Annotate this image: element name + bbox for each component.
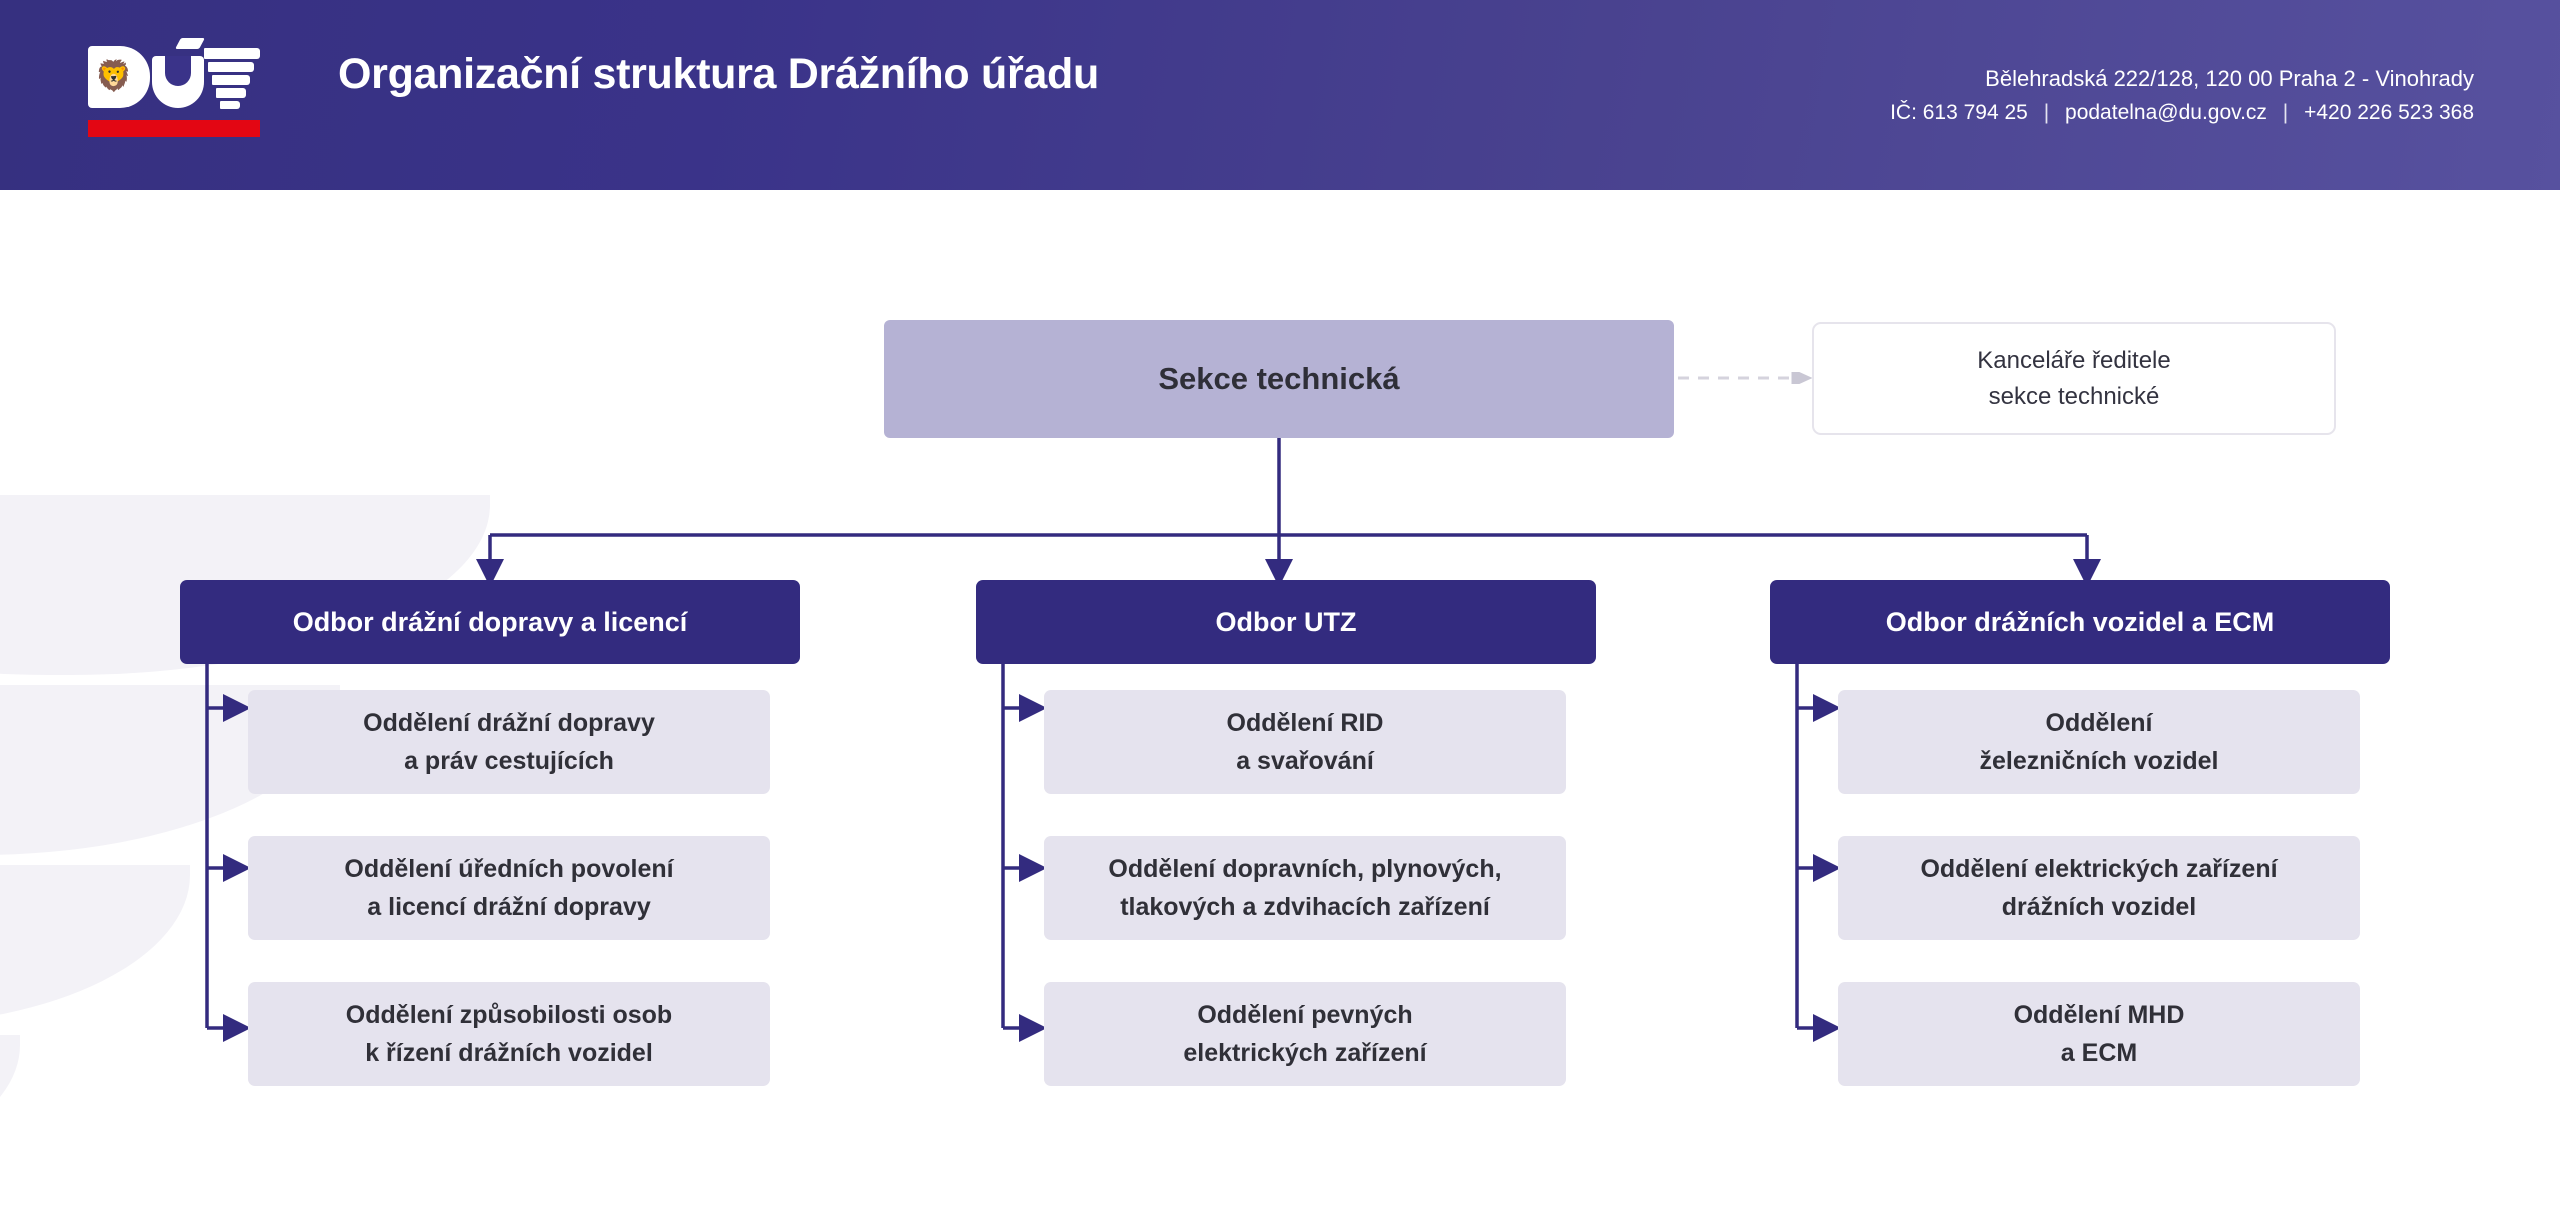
dashed-connector [1678,372,1816,384]
contact-address: Bělehradská 222/128, 120 00 Praha 2 - Vi… [1890,62,2474,96]
unit-line-1: Oddělení MHD [2014,996,2185,1034]
unit-box[interactable]: Oddělení železničních vozidel [1838,690,2360,794]
office-label-line2: sekce technické [1989,379,2160,415]
unit-line-2: a svařování [1236,742,1374,780]
unit-box[interactable]: Oddělení RID a svařování [1044,690,1566,794]
unit-box[interactable]: Oddělení elektrických zařízení drážních … [1838,836,2360,940]
unit-line-1: Oddělení drážní dopravy [363,704,655,742]
logo-letter-u-icon [152,46,204,108]
department-column-1: Odbor drážní dopravy a licencí Oddělení … [180,580,840,1086]
contact-ico: IČ: 613 794 25 [1890,101,2028,124]
unit-line-2: a licencí drážní dopravy [367,888,650,926]
logo-red-bar [88,120,260,137]
contact-separator-1: | [2034,101,2059,124]
unit-line-1: Oddělení pevných [1197,996,1412,1034]
unit-box[interactable]: Oddělení drážní dopravy a práv cestující… [248,690,770,794]
org-chart-canvas: Sekce technická Kanceláře ředitele sekce… [0,190,2560,1209]
unit-line-2: tlakových a zdvihacích zařízení [1120,888,1490,926]
department-column-3: Odbor drážních vozidel a ECM Oddělení že… [1770,580,2430,1086]
node-kancelare-reditele[interactable]: Kanceláře ředitele sekce technické [1812,322,2336,435]
header-contact-info: Bělehradská 222/128, 120 00 Praha 2 - Vi… [1890,62,2474,130]
unit-box[interactable]: Oddělení způsobilosti osob k řízení dráž… [248,982,770,1086]
page-header: 🦁 Organi [0,0,2560,190]
org-chart-page: 🦁 Organi [0,0,2560,1209]
unit-line-1: Oddělení způsobilosti osob [346,996,672,1034]
czech-lion-icon: 🦁 [95,59,125,95]
contact-email[interactable]: podatelna@du.gov.cz [2065,101,2267,124]
unit-line-2: elektrických zařízení [1183,1034,1426,1072]
office-label-line1: Kanceláře ředitele [1977,343,2170,379]
unit-line-1: Oddělení úředních povolení [344,850,673,888]
contact-details-line: IČ: 613 794 25 | podatelna@du.gov.cz | +… [1890,96,2474,130]
unit-line-2: drážních vozidel [2002,888,2196,926]
logo-wing-icon [204,48,260,108]
decorative-swoosh-icon [0,1035,20,1175]
department-header-drazni-vozidla-ecm[interactable]: Odbor drážních vozidel a ECM [1770,580,2390,664]
contact-separator-2: | [2273,101,2298,124]
unit-line-2: a práv cestujících [404,742,614,780]
department-column-2: Odbor UTZ Oddělení RID a svařování Odděl… [976,580,1636,1086]
logo-mark: 🦁 [88,46,260,112]
unit-line-1: Oddělení RID [1227,704,1384,742]
unit-line-2: k řízení drážních vozidel [365,1034,653,1072]
root-node-sekce-technicka[interactable]: Sekce technická [884,320,1674,438]
department-header-drazni-dopravy[interactable]: Odbor drážní dopravy a licencí [180,580,800,664]
unit-line-2: železničních vozidel [1980,742,2219,780]
unit-box[interactable]: Oddělení pevných elektrických zařízení [1044,982,1566,1086]
unit-list-1: Oddělení drážní dopravy a práv cestující… [180,690,840,1086]
unit-box[interactable]: Oddělení úředních povolení a licencí drá… [248,836,770,940]
unit-line-1: Oddělení elektrických zařízení [1920,850,2277,888]
department-header-utz[interactable]: Odbor UTZ [976,580,1596,664]
unit-box[interactable]: Oddělení MHD a ECM [1838,982,2360,1086]
unit-list-2: Oddělení RID a svařování Oddělení doprav… [976,690,1636,1086]
du-logo: 🦁 [88,46,260,142]
unit-line-2: a ECM [2061,1034,2137,1072]
page-title: Organizační struktura Drážního úřadu [338,50,1099,99]
unit-line-1: Oddělení dopravních, plynových, [1108,850,1501,888]
logo-letter-d-icon: 🦁 [88,46,150,108]
unit-box[interactable]: Oddělení dopravních, plynových, tlakovýc… [1044,836,1566,940]
contact-phone[interactable]: +420 226 523 368 [2304,101,2474,124]
unit-list-3: Oddělení železničních vozidel Oddělení e… [1770,690,2430,1086]
unit-line-1: Oddělení [2046,704,2153,742]
decorative-swoosh-icon [0,865,190,1025]
